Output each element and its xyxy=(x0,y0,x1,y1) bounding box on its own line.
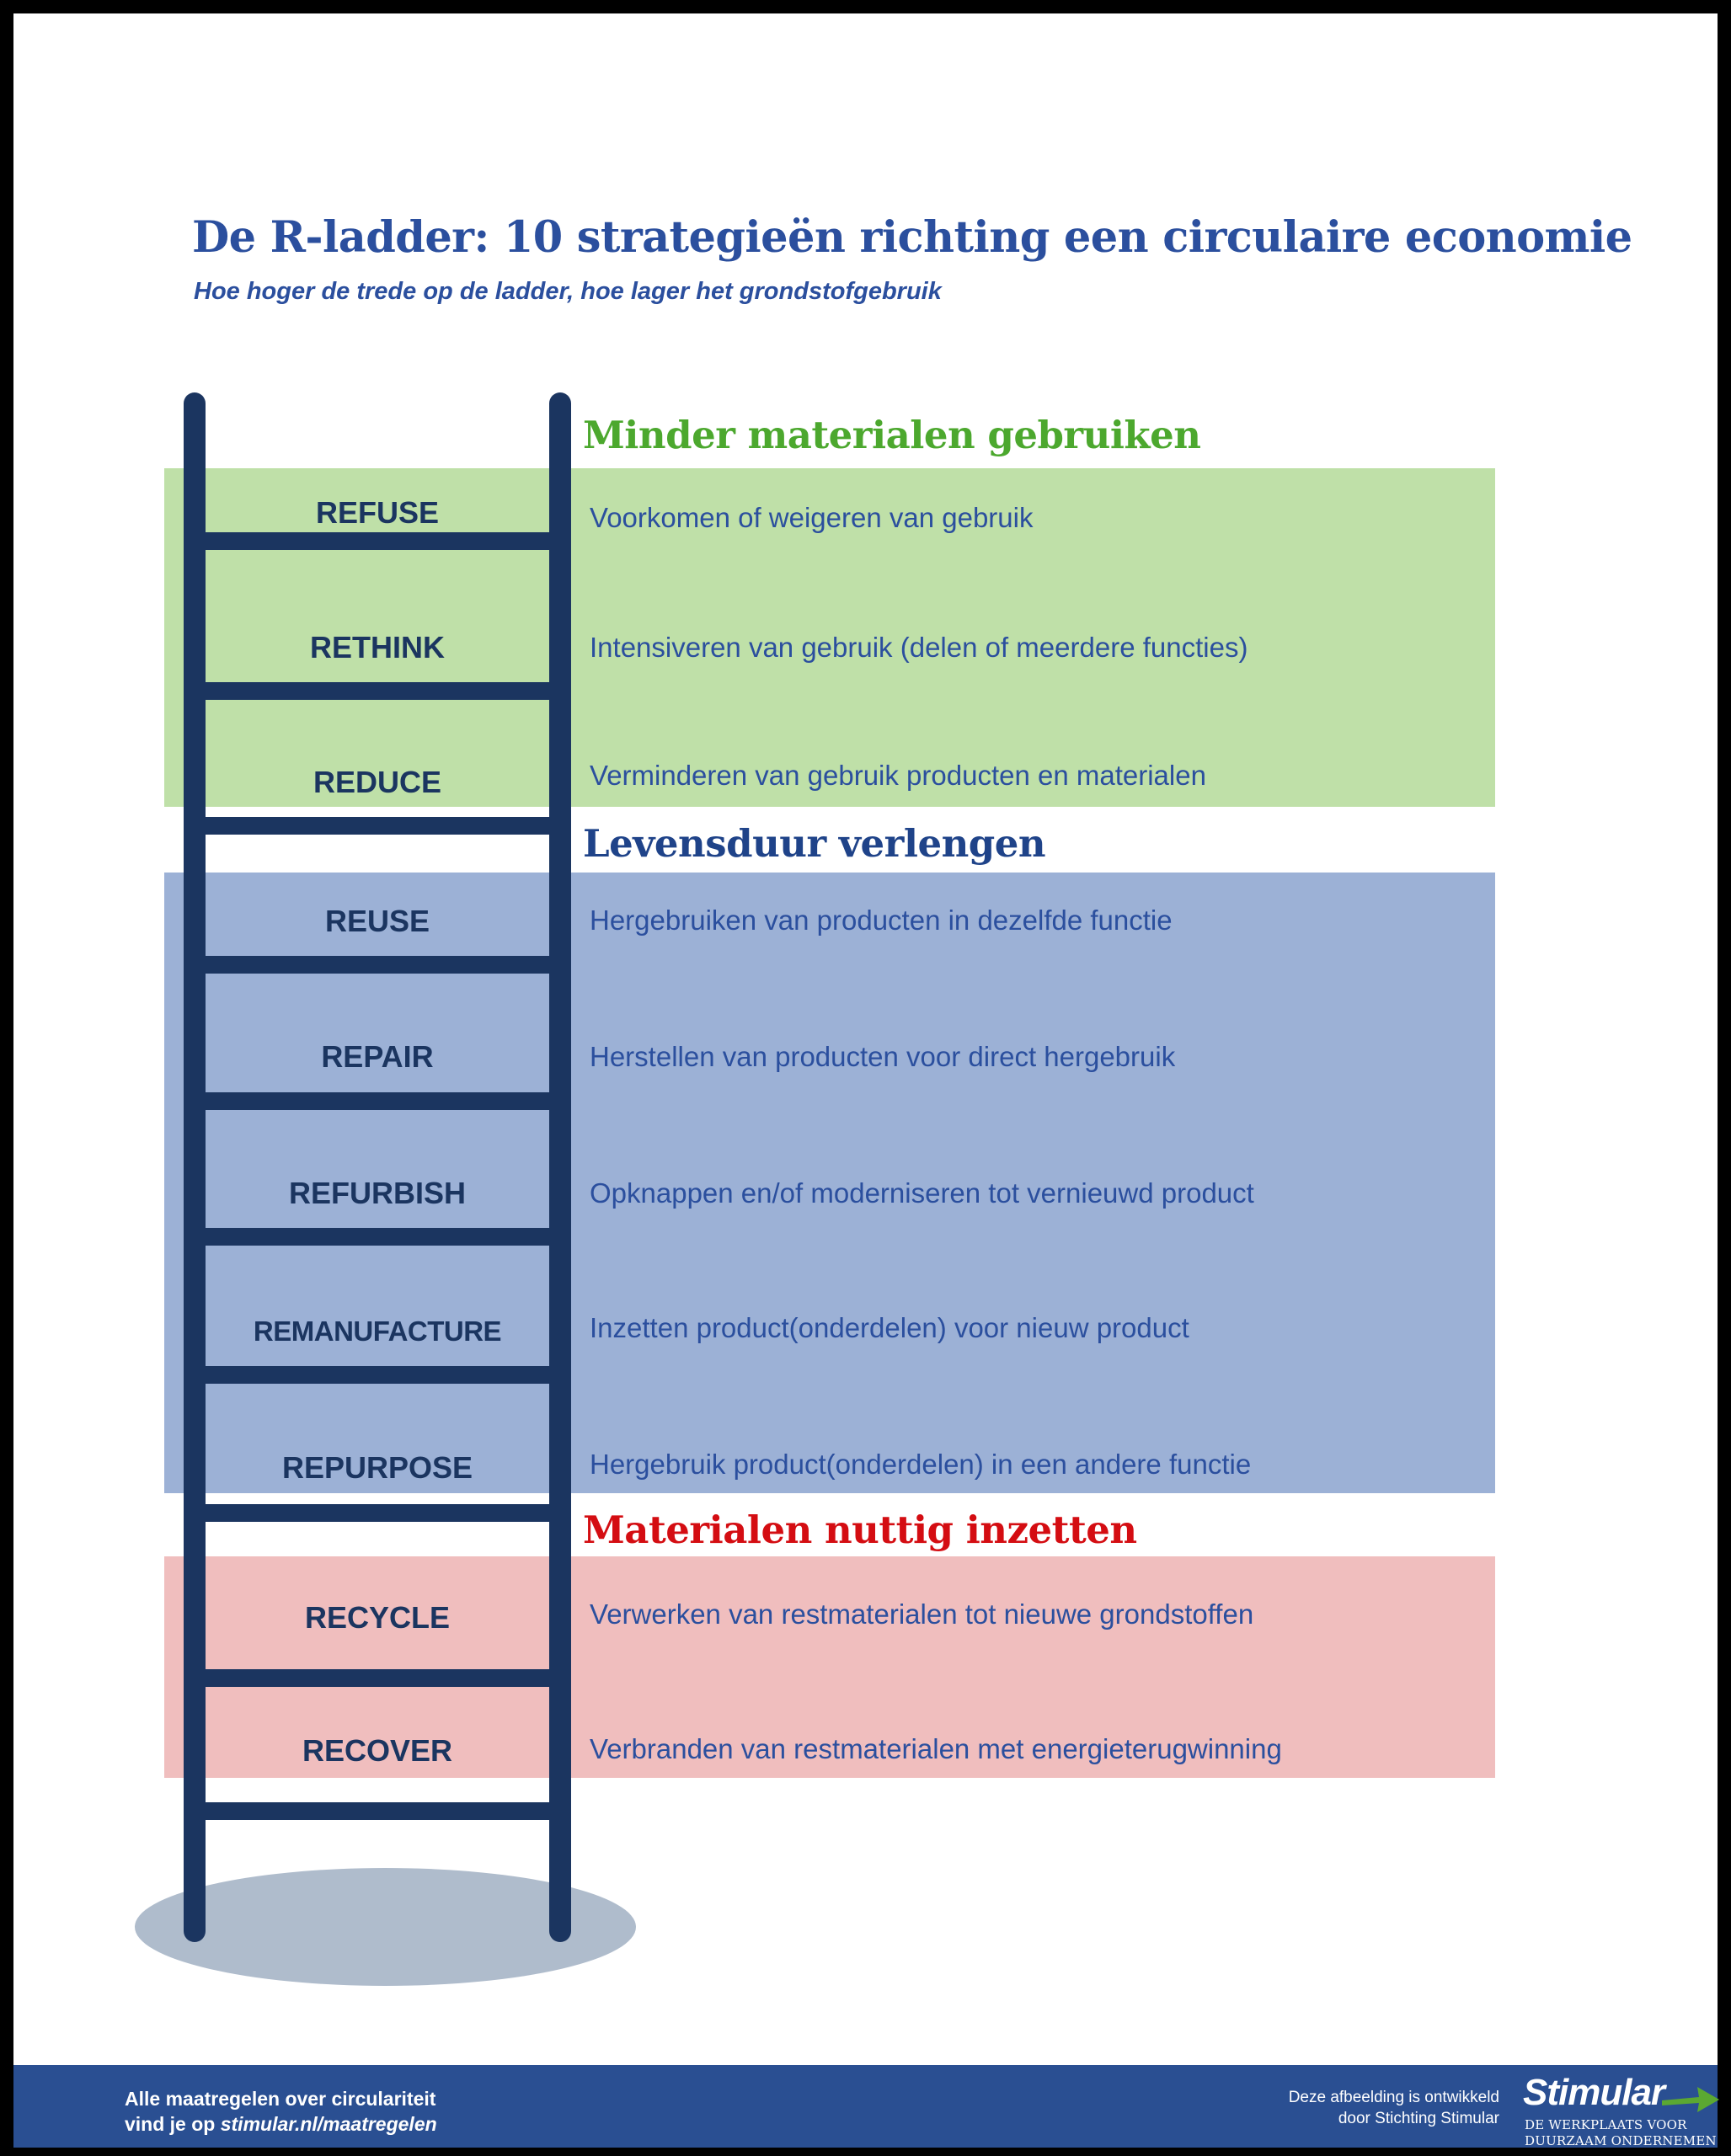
footer-credit-line2: door Stichting Stimular xyxy=(1179,2108,1499,2129)
frame-edge-bottom xyxy=(0,2148,1731,2156)
footer-credit: Deze afbeelding is ontwikkeld door Stich… xyxy=(1179,2087,1499,2129)
frame-edge-right xyxy=(1718,0,1731,2156)
ladder-rung-3 xyxy=(190,817,564,835)
step-description-recover: Verbranden van restmaterialen met energi… xyxy=(590,1733,1282,1765)
step-label-repair: REPAIR xyxy=(190,1039,564,1075)
page-title: De R-ladder: 10 strategieën richting een… xyxy=(192,212,1632,263)
step-description-remanufacture: Inzetten product(onderdelen) voor nieuw … xyxy=(590,1312,1189,1344)
group-heading-minder: Minder materialen gebruiken xyxy=(583,413,1200,457)
stimular-logo-tagline: DE WERKPLAATS VOOR DUURZAAM ONDERNEMEN xyxy=(1525,2117,1717,2149)
step-label-rethink: RETHINK xyxy=(190,630,564,665)
footer-cta: Alle maatregelen over circulariteit vind… xyxy=(125,2086,437,2137)
step-description-refurbish: Opknappen en/of moderniseren tot vernieu… xyxy=(590,1177,1254,1209)
footer-cta-line2: vind je op stimular.nl/maatregelen xyxy=(125,2111,437,2137)
arrow-right-icon xyxy=(1662,2084,1721,2116)
stimular-logo-wordmark: Stimular xyxy=(1523,2072,1664,2114)
ladder-shadow-ellipse xyxy=(135,1868,636,1986)
step-description-refuse: Voorkomen of weigeren van gebruik xyxy=(590,502,1034,534)
footer-cta-line1: Alle maatregelen over circulariteit xyxy=(125,2086,437,2111)
ladder-rung-8 xyxy=(190,1504,564,1522)
step-label-refuse: REFUSE xyxy=(190,495,564,531)
group-heading-materialen: Materialen nuttig inzetten xyxy=(583,1508,1137,1552)
step-label-reuse: REUSE xyxy=(190,904,564,939)
footer-cta-link[interactable]: stimular.nl/maatregelen xyxy=(221,2113,437,2135)
step-label-repurpose: REPURPOSE xyxy=(190,1450,564,1486)
step-description-recycle: Verwerken van restmaterialen tot nieuwe … xyxy=(590,1598,1253,1630)
step-label-recycle: RECYCLE xyxy=(190,1600,564,1636)
step-label-reduce: REDUCE xyxy=(190,765,564,800)
step-label-refurbish: REFURBISH xyxy=(190,1176,564,1211)
step-description-reduce: Verminderen van gebruik producten en mat… xyxy=(590,760,1206,792)
frame-edge-left xyxy=(0,0,13,2156)
step-description-repair: Herstellen van producten voor direct her… xyxy=(590,1041,1175,1073)
infographic-page: De R-ladder: 10 strategieën richting een… xyxy=(0,0,1731,2156)
step-label-remanufacture: REMANUFACTURE xyxy=(190,1315,564,1347)
step-label-recover: RECOVER xyxy=(190,1733,564,1769)
footer-cta-prefix: vind je op xyxy=(125,2113,221,2135)
stimular-tagline-line2: DUURZAAM ONDERNEMEN xyxy=(1525,2133,1717,2149)
step-description-repurpose: Hergebruik product(onderdelen) in een an… xyxy=(590,1449,1251,1481)
page-subtitle: Hoe hoger de trede op de ladder, hoe lag… xyxy=(194,278,942,306)
stimular-logo: Stimular DE WERKPLAATS VOOR DUURZAAM OND… xyxy=(1523,2072,1717,2153)
step-description-rethink: Intensiveren van gebruik (delen of meerd… xyxy=(590,632,1247,664)
group-heading-levensduur: Levensduur verlengen xyxy=(583,821,1045,866)
ladder-rung-10 xyxy=(190,1802,564,1820)
footer-credit-line1: Deze afbeelding is ontwikkeld xyxy=(1179,2087,1499,2108)
stimular-tagline-line1: DE WERKPLAATS VOOR xyxy=(1525,2117,1717,2133)
frame-edge-top xyxy=(0,0,1731,13)
step-description-reuse: Hergebruiken van producten in dezelfde f… xyxy=(590,905,1173,937)
